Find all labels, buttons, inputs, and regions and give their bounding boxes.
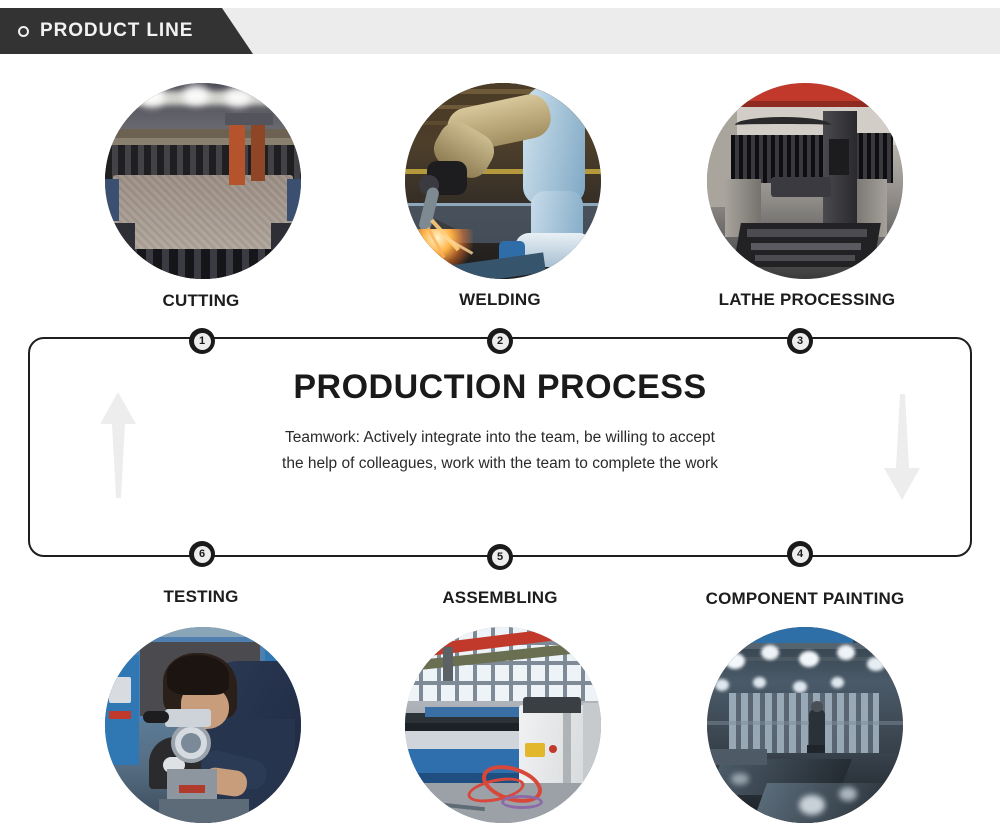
step-badge-2[interactable]: 2: [487, 328, 513, 354]
step-badge-2-number: 2: [492, 333, 509, 350]
product-line-infographic: PRODUCT LINE CUTTING: [0, 0, 1000, 835]
step-image-lathe-processing: [707, 83, 903, 279]
step-badge-5[interactable]: 5: [487, 544, 513, 570]
step-badge-3-number: 3: [792, 333, 809, 350]
process-description: Teamwork: Actively integrate into the te…: [280, 425, 720, 477]
step-image-assembling: [405, 627, 601, 823]
step-badge-1[interactable]: 1: [189, 328, 215, 354]
caption-welding: WELDING: [459, 290, 541, 310]
caption-component-painting: COMPONENT PAINTING: [706, 589, 905, 609]
header-tag: PRODUCT LINE: [0, 8, 253, 54]
caption-assembling: ASSEMBLING: [442, 588, 557, 608]
step-badge-4-number: 4: [792, 546, 809, 563]
step-badge-1-number: 1: [194, 333, 211, 350]
caption-lathe-processing: LATHE PROCESSING: [719, 290, 896, 310]
process-title: PRODUCTION PROCESS: [0, 368, 1000, 407]
page-title: PRODUCT LINE: [40, 20, 193, 42]
step-image-component-painting: [707, 627, 903, 823]
caption-cutting: CUTTING: [163, 291, 240, 311]
step-badge-6[interactable]: 6: [189, 541, 215, 567]
step-badge-6-number: 6: [194, 546, 211, 563]
step-badge-4[interactable]: 4: [787, 541, 813, 567]
ring-icon: [18, 26, 29, 37]
caption-testing: TESTING: [163, 587, 238, 607]
step-image-welding: [405, 83, 601, 279]
step-badge-3[interactable]: 3: [787, 328, 813, 354]
step-image-testing: [105, 627, 301, 823]
step-badge-5-number: 5: [492, 549, 509, 566]
step-image-cutting: [105, 83, 301, 279]
arrow-down-icon: [880, 392, 924, 502]
